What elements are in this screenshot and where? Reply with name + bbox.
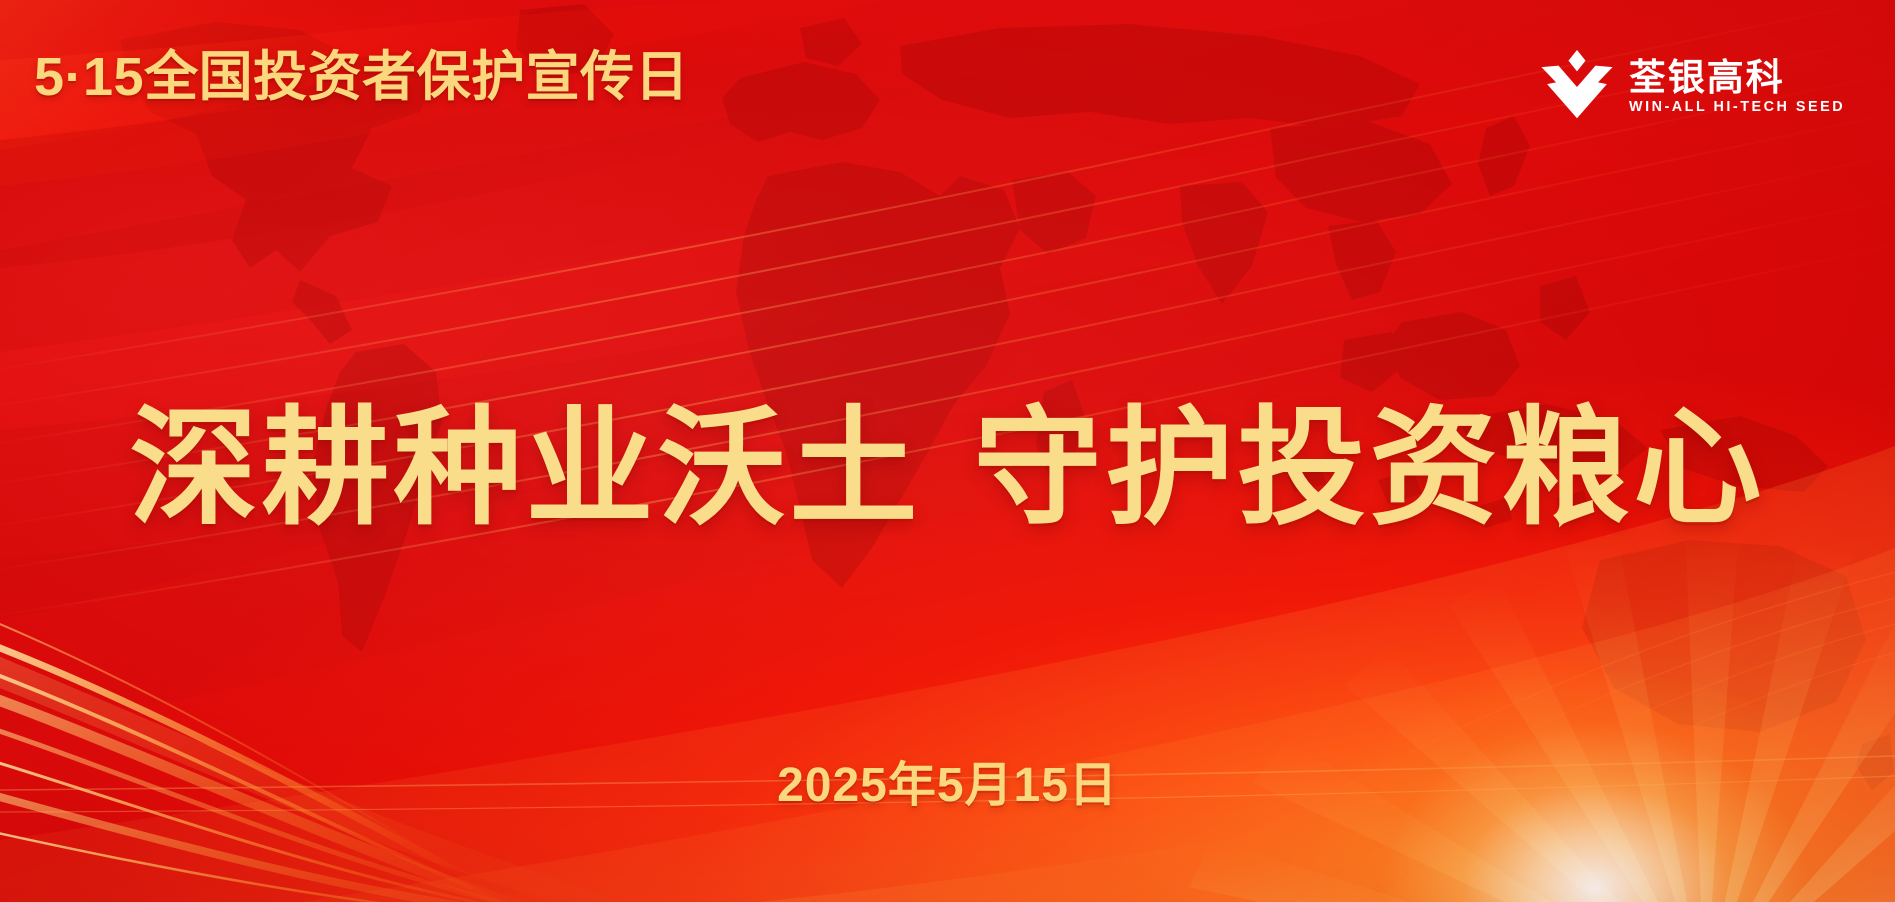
campaign-eyebrow-text: 5·15全国投资者保护宣传日 (34, 50, 689, 104)
banner-content: 5·15全国投资者保护宣传日 荃银高科 (0, 0, 1895, 902)
company-name-en: WIN-ALL HI-TECH SEED (1629, 100, 1845, 115)
company-name-block: 荃银高科 WIN-ALL HI-TECH SEED (1629, 59, 1847, 114)
event-date: 2025年5月15日 (0, 762, 1895, 810)
company-name-cn: 荃银高科 (1629, 59, 1847, 97)
investor-protection-day-banner: 5·15全国投资者保护宣传日 荃银高科 (0, 0, 1895, 902)
company-logo-lockup: 荃银高科 WIN-ALL HI-TECH SEED (1541, 50, 1847, 124)
headline-part-1: 深耕种业沃土 (129, 397, 921, 540)
winall-chevron-seed-logo-icon (1541, 50, 1613, 124)
page-title: 深耕种业沃土守护投资粮心 (0, 405, 1895, 533)
headline-part-2: 守护投资粮心 (974, 397, 1766, 540)
